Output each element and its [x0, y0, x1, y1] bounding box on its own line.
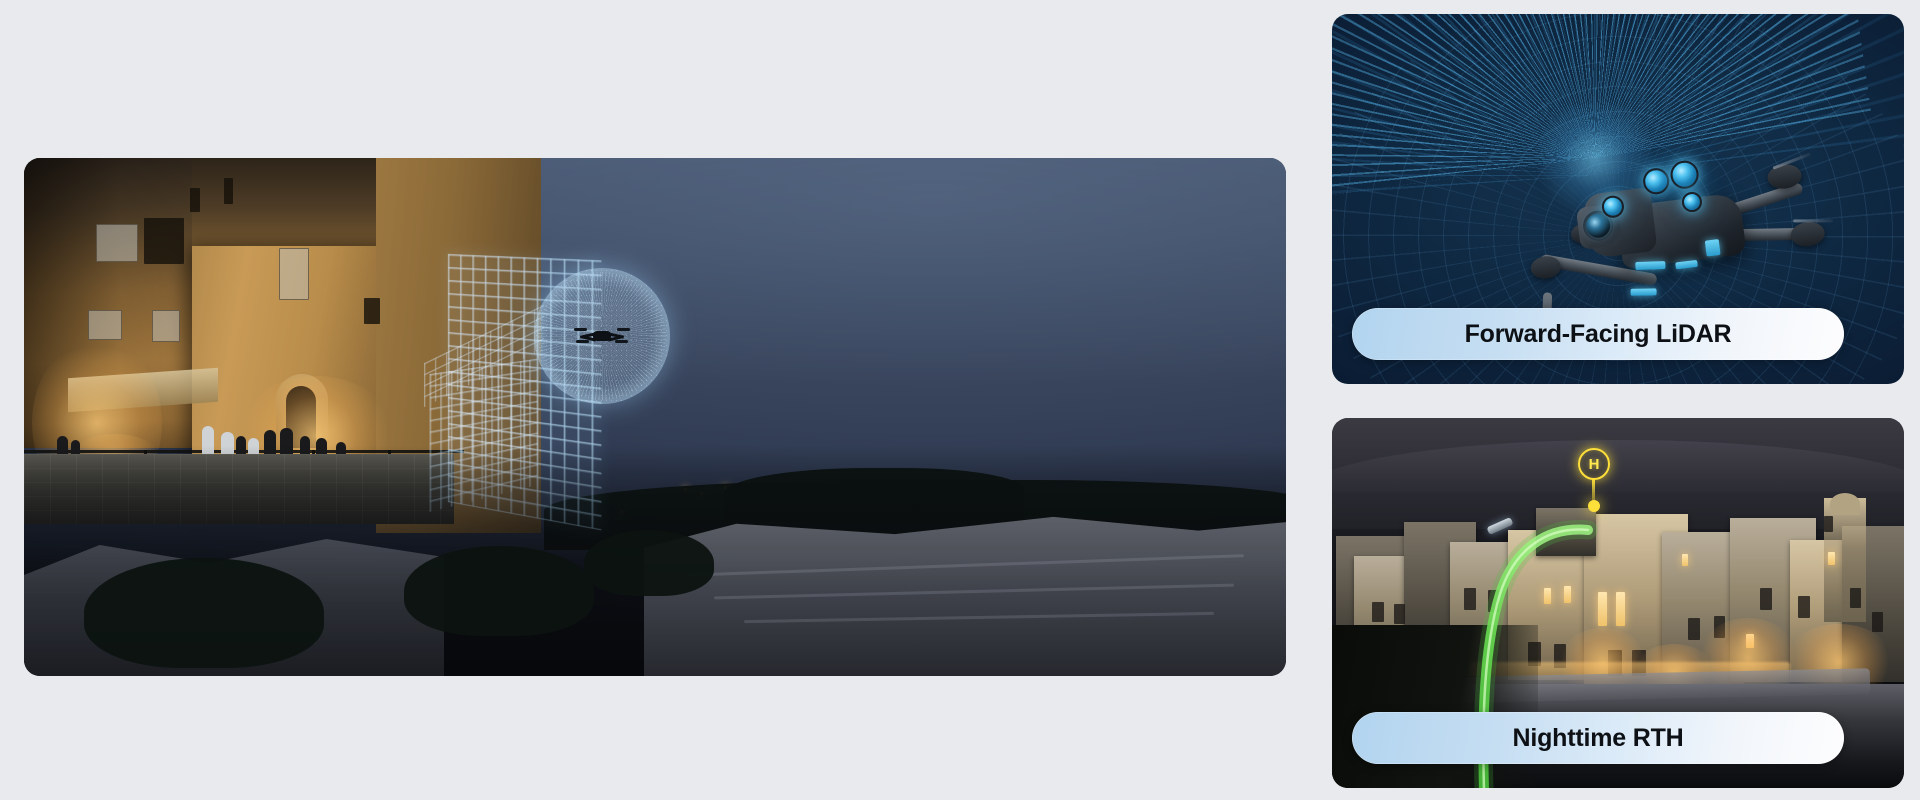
dark-window [1488, 590, 1499, 612]
drone-status-strip [1675, 260, 1698, 270]
dark-window [1688, 618, 1700, 640]
window-dark [224, 178, 233, 204]
lidar-label-text: Forward-Facing LiDAR [1465, 320, 1732, 349]
lit-window [1544, 588, 1551, 604]
feature-showcase-page: 360° Nightscape Obstacle Sensing[3] [0, 0, 1920, 800]
drone-rotor [574, 328, 587, 331]
dark-window [1760, 588, 1772, 610]
dark-window [1372, 602, 1384, 622]
drone-rotor [615, 340, 628, 343]
home-point-marker: H [1578, 448, 1610, 480]
rth-feature-label[interactable]: Nighttime RTH [1352, 712, 1844, 764]
bell-tower-cap [1830, 493, 1860, 515]
rth-label-text: Nighttime RTH [1513, 724, 1684, 753]
window-shutter [152, 310, 180, 342]
dark-window [1850, 588, 1861, 608]
lit-window [1616, 592, 1625, 626]
dark-window [1872, 612, 1883, 632]
drone-rotor-rear-left [1530, 255, 1562, 280]
lit-window [1598, 592, 1607, 626]
lidar-feature-label[interactable]: Forward-Facing LiDAR [1352, 308, 1844, 360]
window-shutter [279, 248, 309, 300]
foreground-vegetation [84, 558, 324, 668]
window-dark [144, 218, 184, 264]
drone-status-strip [1635, 261, 1665, 270]
drone-rotor-rear-right [1789, 220, 1826, 248]
lit-window [1682, 554, 1688, 566]
window-dark [190, 188, 200, 212]
drone-rotor [576, 340, 589, 343]
card-forward-facing-lidar[interactable]: Forward-Facing LiDAR [1332, 14, 1904, 384]
lit-window [1564, 586, 1571, 603]
drone-status-strip [1705, 239, 1721, 257]
home-marker-dot [1588, 500, 1600, 512]
drone-status-strip [1631, 288, 1657, 295]
drone-blade [1793, 219, 1833, 222]
lidar-sensor-module [1669, 159, 1700, 190]
drone-silhouette-icon [574, 327, 630, 345]
building-tower-upper [192, 158, 402, 250]
hero-image-360-nightscape[interactable]: 360° Nightscape Obstacle Sensing[3] [24, 158, 1286, 676]
dark-window [1464, 588, 1476, 610]
window-dark [364, 298, 380, 324]
foreground-vegetation [404, 546, 594, 636]
card-nighttime-rth[interactable]: H Nighttime RTH [1332, 418, 1904, 788]
dark-window [1394, 604, 1405, 624]
foreground-vegetation [584, 530, 714, 596]
home-marker-icon: H [1578, 448, 1610, 480]
dark-window [1824, 516, 1833, 532]
building [1536, 508, 1596, 556]
dark-window [1798, 596, 1810, 618]
drone-rotor [617, 328, 630, 331]
window-shutter [88, 310, 122, 340]
obstacle-sensing-sphere [534, 268, 670, 404]
lit-window [1828, 552, 1835, 565]
window-shutter [96, 224, 138, 262]
